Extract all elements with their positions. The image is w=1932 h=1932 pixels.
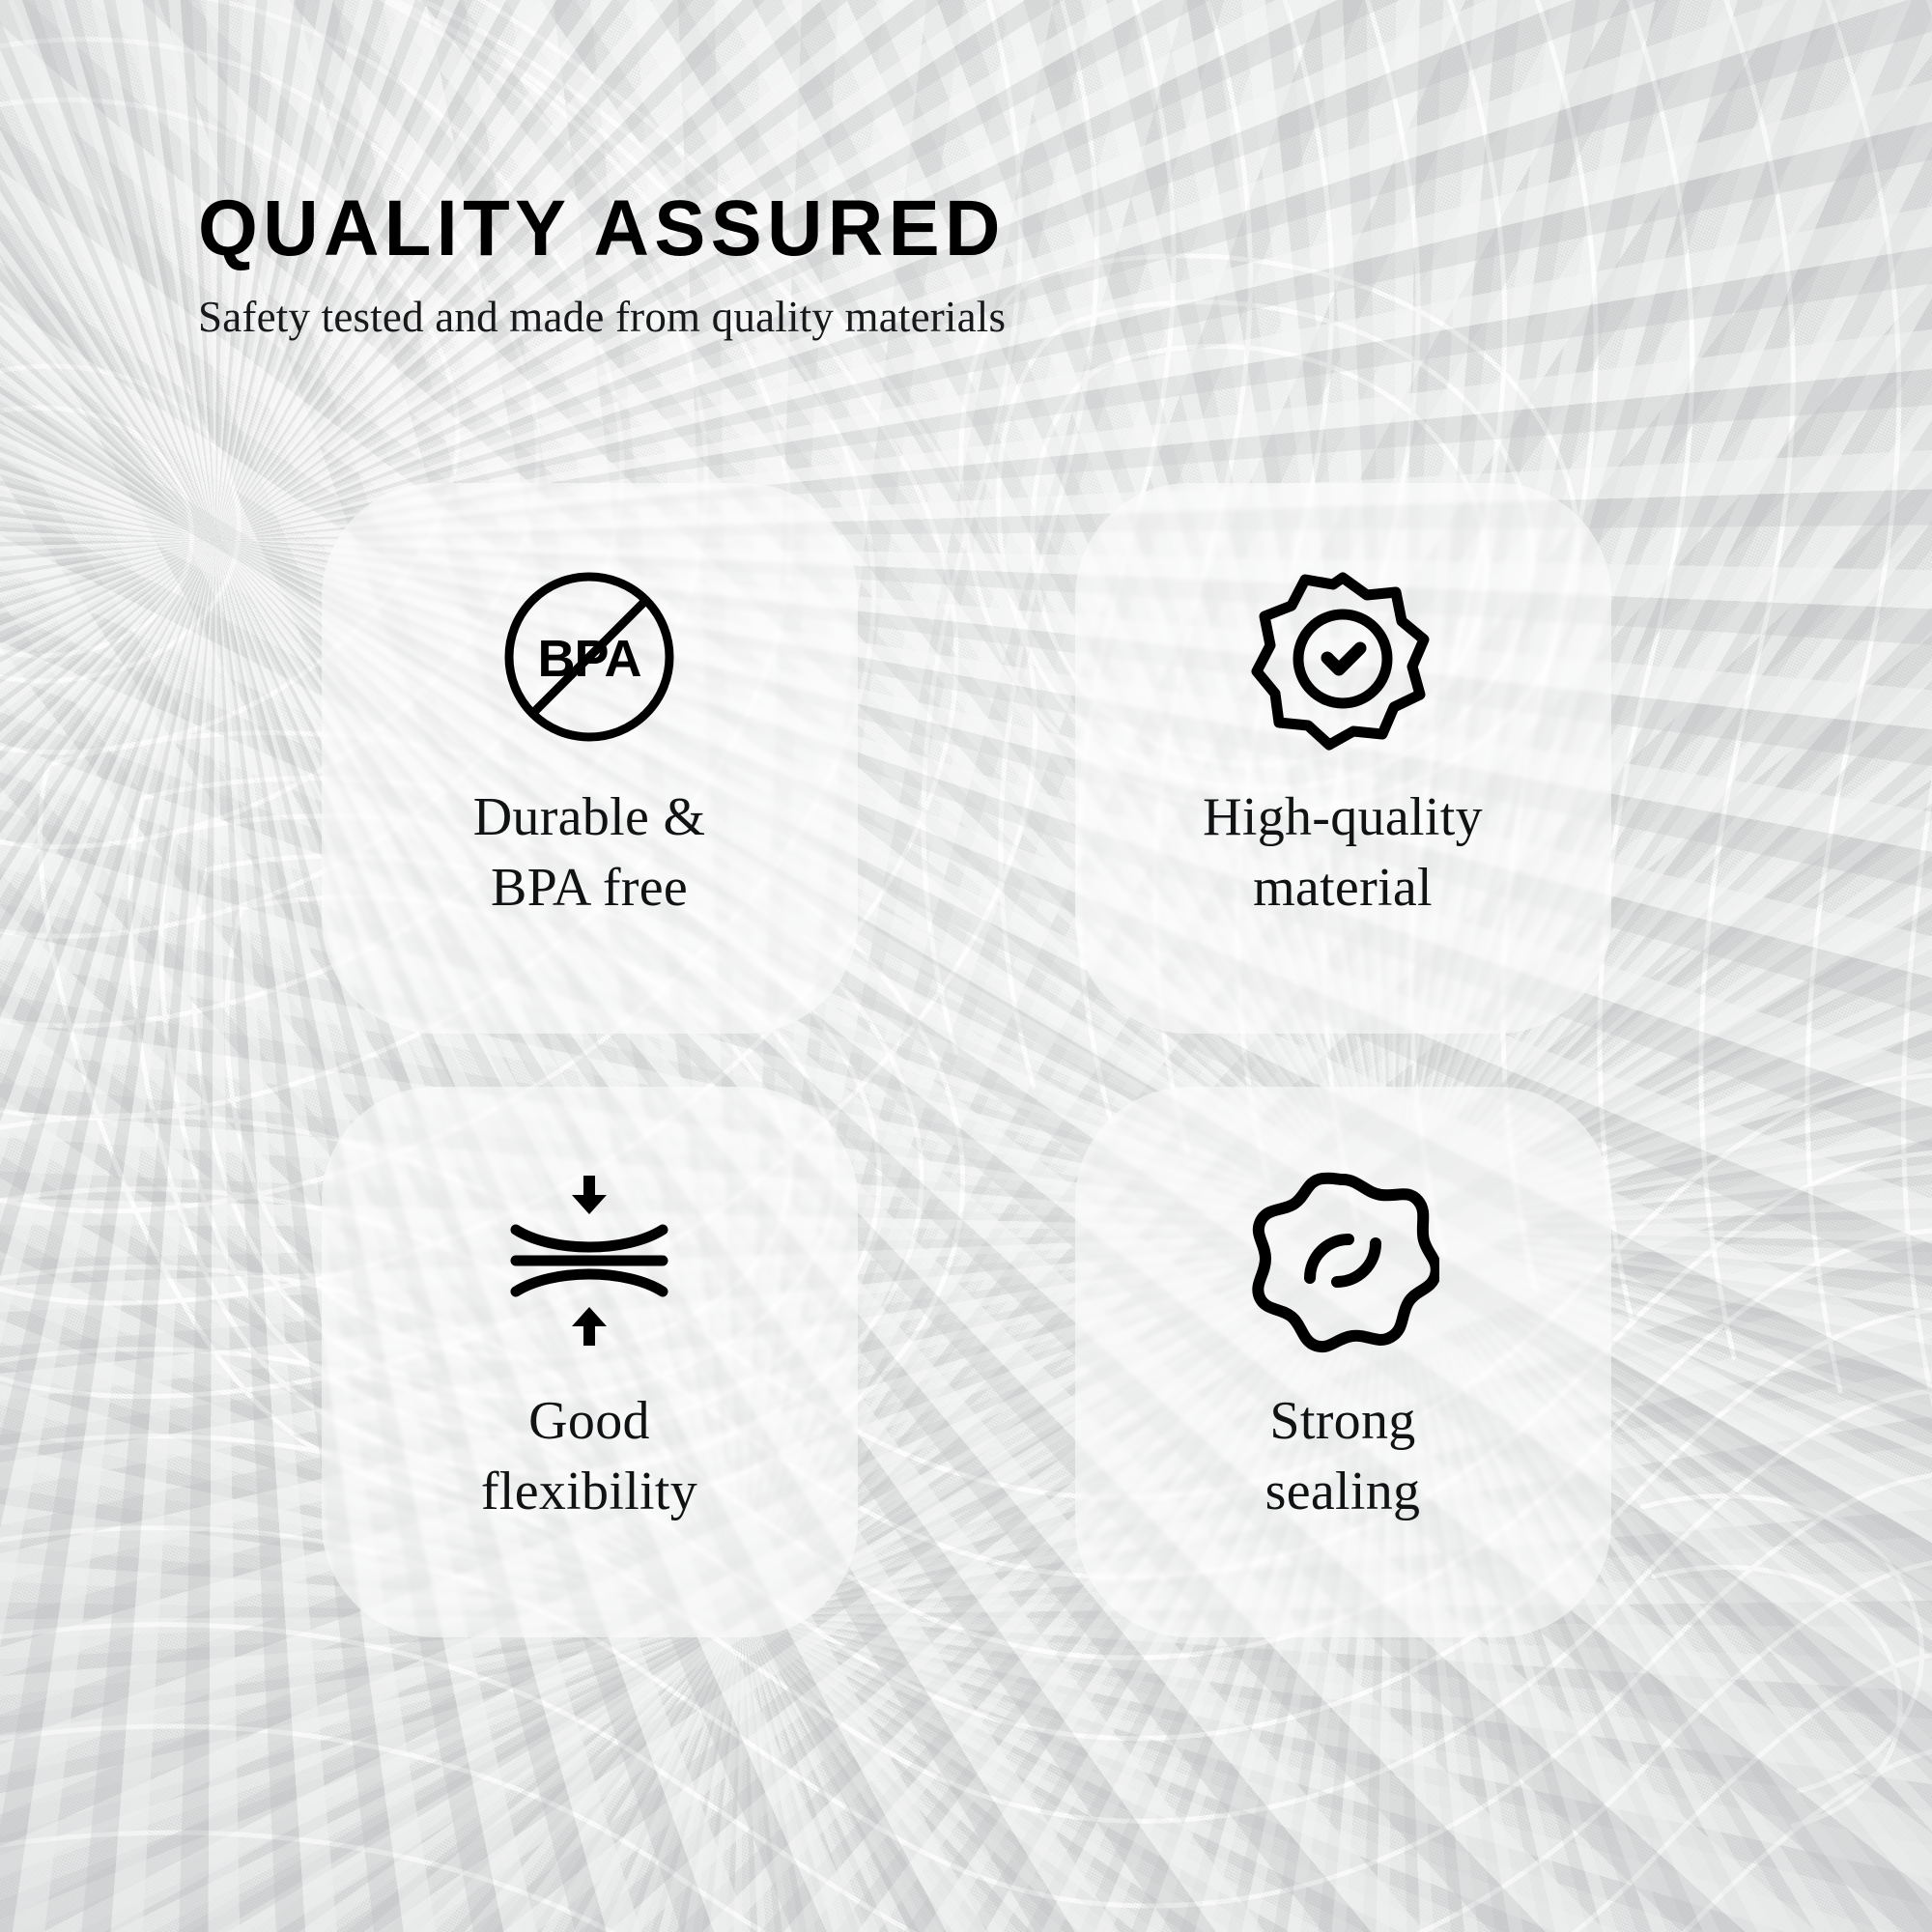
feature-card-label: High-quality material: [1203, 782, 1483, 923]
feature-card-flexibility: Good flexibility: [322, 1087, 858, 1637]
page-subtitle: Safety tested and made from quality mate…: [198, 294, 1550, 342]
label-line-2: sealing: [1265, 1457, 1421, 1527]
quality-badge-check-icon: [1246, 560, 1439, 753]
no-bpa-icon: BPA: [493, 560, 686, 753]
bpa-wordmark: BPA: [537, 630, 640, 688]
seal-rosette-icon: [1246, 1164, 1439, 1357]
page-title: QUALITY ASSURED: [198, 189, 1510, 269]
feature-card-high-quality: High-quality material: [1075, 483, 1611, 1034]
quality-assured-poster: QUALITY ASSURED Safety tested and made f…: [0, 0, 1932, 1932]
feature-card-label: Strong sealing: [1265, 1386, 1421, 1527]
label-line-1: Durable &: [473, 782, 706, 853]
feature-grid: BPA Durable & BPA free High-quality mat: [0, 483, 1932, 1637]
header: QUALITY ASSURED Safety tested and made f…: [198, 189, 1550, 342]
label-line-1: High-quality: [1203, 782, 1483, 853]
feature-card-bpa-free: BPA Durable & BPA free: [322, 483, 858, 1034]
label-line-2: material: [1203, 853, 1483, 923]
label-line-1: Strong: [1265, 1386, 1421, 1457]
feature-card-strong-sealing: Strong sealing: [1075, 1087, 1611, 1637]
feature-card-label: Durable & BPA free: [473, 782, 706, 923]
flexibility-compression-icon: [493, 1164, 686, 1357]
feature-card-label: Good flexibility: [481, 1386, 697, 1527]
label-line-1: Good: [481, 1386, 697, 1457]
label-line-2: flexibility: [481, 1457, 697, 1527]
label-line-2: BPA free: [473, 853, 706, 923]
